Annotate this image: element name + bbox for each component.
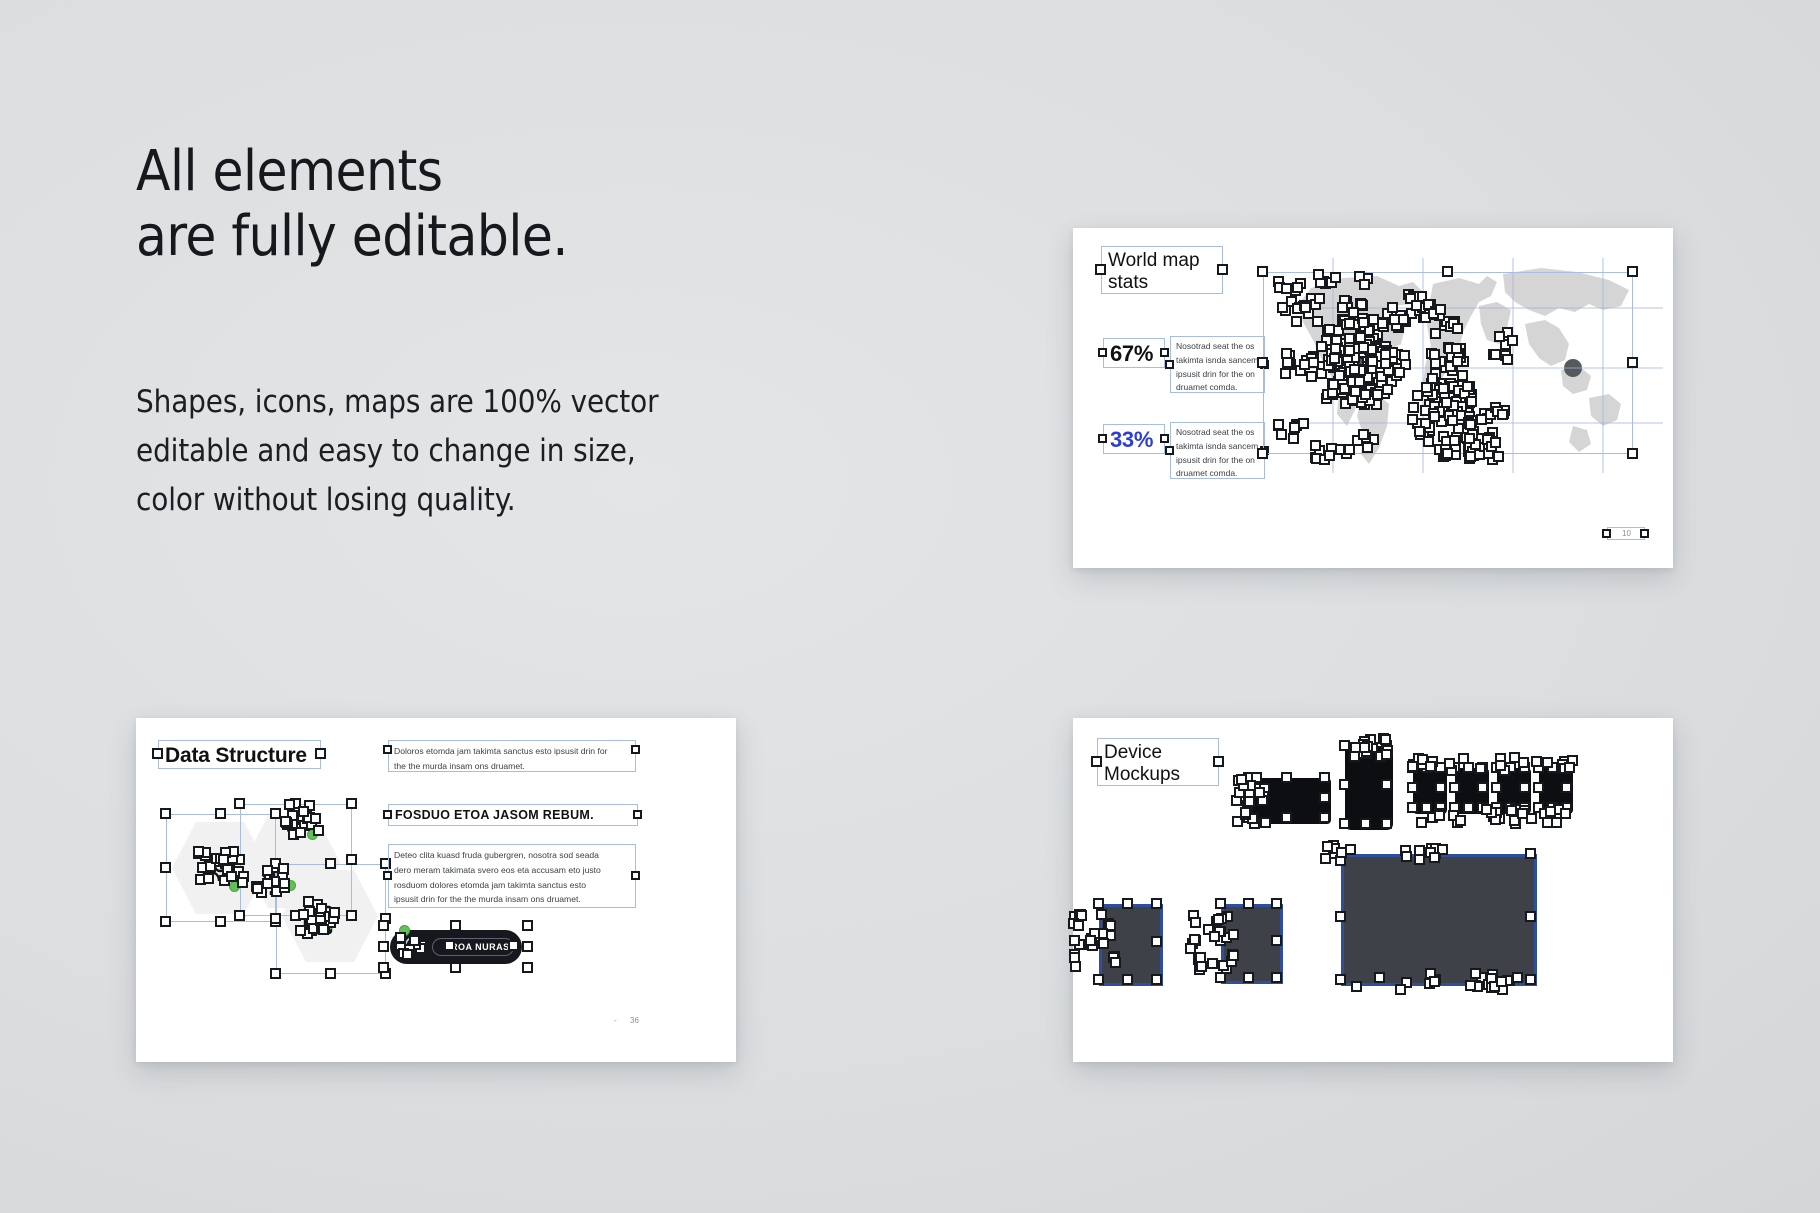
resize-handle[interactable] [1122,898,1133,909]
resize-handle[interactable] [1475,763,1486,774]
resize-handle[interactable] [295,827,306,838]
resize-handle[interactable] [1339,740,1350,751]
resize-handle[interactable] [1381,749,1392,760]
resize-handle[interactable] [1458,753,1469,764]
resize-handle[interactable] [215,916,226,927]
resize-handle[interactable] [402,949,413,960]
resize-handle[interactable] [346,854,357,865]
resize-handle[interactable] [378,962,389,973]
resize-handle[interactable] [152,748,163,759]
resize-handle[interactable] [1360,389,1371,400]
resize-handle[interactable] [1640,529,1649,538]
resize-handle[interactable] [1271,972,1282,983]
resize-handle[interactable] [1465,980,1476,991]
resize-handle[interactable] [1098,348,1107,357]
page-subtitle: Shapes, icons, maps are 100% vector edit… [136,378,896,525]
monitor-mockup-large[interactable] [1341,854,1537,986]
resize-handle[interactable] [1429,852,1440,863]
resize-handle[interactable] [1416,817,1427,828]
resize-handle[interactable] [270,968,281,979]
resize-handle[interactable] [1502,354,1513,365]
resize-handle[interactable] [1399,350,1410,361]
resize-handle[interactable] [1394,367,1405,378]
resize-handle[interactable] [1414,845,1425,856]
stat-blurb-67[interactable]: Nosotrad seat the os takimta isnda sance… [1170,336,1265,393]
resize-handle[interactable] [1330,272,1341,283]
resize-handle[interactable] [1319,792,1330,803]
resize-handle[interactable] [1442,448,1453,459]
resize-handle[interactable] [1398,314,1409,325]
resize-handle[interactable] [378,941,389,952]
resize-handle[interactable] [1444,758,1455,769]
resize-handle[interactable] [1407,782,1418,793]
resize-handle[interactable] [1464,433,1475,444]
resize-handle[interactable] [160,862,171,873]
resize-handle[interactable] [1069,935,1080,946]
resize-handle[interactable] [1345,844,1356,855]
resize-handle[interactable] [1213,756,1224,767]
resize-handle[interactable] [1493,451,1504,462]
resize-handle[interactable] [1151,974,1162,985]
resize-handle[interactable] [1281,283,1292,294]
resize-handle[interactable] [1243,898,1254,909]
resize-handle[interactable] [1151,898,1162,909]
resize-handle[interactable] [1236,774,1247,785]
resize-handle[interactable] [1312,316,1323,327]
resize-handle[interactable] [1160,348,1169,357]
resize-handle[interactable] [193,846,204,857]
resize-handle[interactable] [1491,782,1502,793]
resize-handle[interactable] [1481,804,1492,815]
resize-handle[interactable] [160,916,171,927]
resize-handle[interactable] [1291,316,1302,327]
resize-handle[interactable] [1281,812,1292,823]
resize-handle[interactable] [1165,360,1174,369]
resize-handle[interactable] [1542,757,1553,768]
resize-handle[interactable] [1380,358,1391,369]
resize-handle[interactable] [1425,761,1436,772]
resize-handle[interactable] [1490,437,1501,448]
resize-handle[interactable] [383,810,392,819]
resize-handle[interactable] [1085,935,1096,946]
resize-handle[interactable] [1215,898,1226,909]
section-subheading[interactable]: FOSDUO ETOA JASOM REBUM. [388,804,638,826]
resize-handle[interactable] [383,871,392,880]
resize-handle[interactable] [1407,802,1418,813]
resize-handle[interactable] [315,748,326,759]
resize-handle[interactable] [395,932,406,943]
resize-handle[interactable] [1271,898,1282,909]
resize-handle[interactable] [1495,760,1506,771]
resize-handle[interactable] [1435,304,1446,315]
resize-handle[interactable] [1324,324,1335,335]
resize-handle[interactable] [1451,343,1462,354]
resize-handle[interactable] [1545,806,1556,817]
resize-handle[interactable] [252,883,263,894]
resize-handle[interactable] [1381,779,1392,790]
slide-world-map-stats[interactable]: World map stats 67% Nosotrad seat the os… [1073,228,1673,568]
resize-handle[interactable] [1349,751,1360,762]
resize-handle[interactable] [310,813,321,824]
resize-handle[interactable] [1319,812,1330,823]
resize-handle[interactable] [313,825,324,836]
resize-handle[interactable] [1512,972,1523,983]
resize-handle[interactable] [1093,898,1104,909]
resize-handle[interactable] [1310,440,1321,451]
resize-handle[interactable] [1313,269,1324,280]
resize-handle[interactable] [1441,397,1452,408]
resize-handle[interactable] [1496,976,1507,987]
marketing-copy-block: All elements are fully editable. Shapes,… [136,140,896,525]
resize-handle[interactable] [508,940,519,951]
resize-handle[interactable] [1358,317,1369,328]
resize-handle[interactable] [1095,264,1106,275]
resize-handle[interactable] [1185,943,1196,954]
resize-handle[interactable] [1257,357,1268,368]
intro-paragraph[interactable]: Doloros etomda jam takimta sanctus esto … [388,740,636,772]
resize-handle[interactable] [1358,429,1369,440]
resize-handle[interactable] [450,920,461,931]
resize-handle[interactable] [1407,414,1418,425]
resize-handle[interactable] [1073,920,1084,931]
stat-value-33[interactable]: 33% [1103,424,1165,454]
resize-handle[interactable] [1430,358,1441,369]
resize-handle[interactable] [1551,817,1562,828]
resize-handle[interactable] [1348,307,1359,318]
resize-handle[interactable] [1525,911,1536,922]
resize-handle[interactable] [1382,384,1393,395]
resize-handle[interactable] [1093,974,1104,985]
resize-handle[interactable] [160,808,171,819]
resize-handle[interactable] [1190,917,1201,928]
resize-handle[interactable] [1362,442,1373,453]
slide-page-number: 10 [1622,529,1631,538]
presentation-preview-canvas: All elements are fully editable. Shapes,… [0,0,1820,1213]
resize-handle[interactable] [1434,810,1445,821]
resize-handle[interactable] [1466,396,1477,407]
stat-value-67[interactable]: 67% [1103,338,1165,368]
resize-handle[interactable] [1358,342,1369,353]
resize-handle[interactable] [1350,386,1361,397]
resize-handle[interactable] [1349,364,1360,375]
resize-handle[interactable] [1320,853,1331,864]
resize-handle[interactable] [1298,418,1309,429]
resize-handle[interactable] [1408,402,1419,413]
resize-handle[interactable] [1457,370,1468,381]
resize-handle[interactable] [1509,752,1520,763]
resize-handle[interactable] [1497,409,1508,420]
resize-handle[interactable] [215,808,226,819]
resize-handle[interactable] [1209,931,1220,942]
resize-handle[interactable] [522,941,533,952]
slide-title-device-mockups[interactable]: Device Mockups [1097,738,1219,786]
resize-handle[interactable] [218,854,229,865]
resize-handle[interactable] [1477,782,1488,793]
resize-handle[interactable] [325,858,336,869]
resize-handle[interactable] [1243,972,1254,983]
resize-handle[interactable] [1324,450,1335,461]
resize-handle[interactable] [1334,370,1345,381]
resize-handle[interactable] [1228,950,1239,961]
resize-handle[interactable] [298,806,309,817]
resize-handle[interactable] [1070,961,1081,972]
resize-handle[interactable] [1627,448,1638,459]
resize-handle[interactable] [1359,279,1370,290]
resize-handle[interactable] [1367,356,1378,367]
page-title: All elements are fully editable. [136,140,896,270]
resize-handle[interactable] [631,871,640,880]
resize-handle[interactable] [1277,302,1288,313]
resize-handle[interactable] [1151,936,1162,947]
resize-handle[interactable] [1455,815,1466,826]
resize-handle[interactable] [1260,817,1271,828]
resize-handle[interactable] [633,810,642,819]
resize-handle[interactable] [1627,266,1638,277]
resize-handle[interactable] [1414,426,1425,437]
resize-handle[interactable] [1429,976,1440,987]
resize-handle[interactable] [1217,264,1228,275]
slide-title-world-map[interactable]: World map stats [1101,246,1223,294]
resize-handle[interactable] [279,878,290,889]
resize-handle[interactable] [1160,434,1169,443]
resize-handle[interactable] [1525,848,1536,859]
resize-handle[interactable] [1122,974,1133,985]
resize-handle[interactable] [1564,762,1575,773]
stat-blurb-33[interactable]: Nosotrad seat the os takimta isnda sance… [1170,422,1265,479]
resize-handle[interactable] [1292,282,1303,293]
resize-handle[interactable] [1271,935,1282,946]
resize-handle[interactable] [1465,451,1476,462]
resize-handle[interactable] [1561,782,1572,793]
resize-handle[interactable] [1387,302,1398,313]
slide-data-structure[interactable]: Data Structure [136,718,736,1062]
resize-handle[interactable] [444,940,455,951]
resize-handle[interactable] [262,865,273,876]
resize-handle[interactable] [1374,972,1385,983]
resize-handle[interactable] [1494,331,1505,342]
resize-handle[interactable] [1465,419,1476,430]
resize-handle[interactable] [325,968,336,979]
resize-handle[interactable] [1430,328,1441,339]
resize-handle[interactable] [1339,779,1350,790]
resize-handle[interactable] [1372,389,1383,400]
resize-handle[interactable] [1319,772,1330,783]
resize-handle[interactable] [1207,958,1218,969]
resize-handle[interactable] [1344,345,1355,356]
resize-handle[interactable] [346,910,357,921]
resize-handle[interactable] [1442,266,1453,277]
resize-handle[interactable] [1276,429,1287,440]
resize-handle[interactable] [237,877,248,888]
resize-handle[interactable] [1110,957,1121,968]
resize-handle[interactable] [203,873,214,884]
resize-handle[interactable] [1096,909,1107,920]
slide-device-mockups[interactable]: Device Mockups [1073,718,1673,1062]
resize-handle[interactable] [1421,382,1432,393]
resize-handle[interactable] [1401,851,1412,862]
resize-handle[interactable] [280,816,291,827]
page-number-dash: - [614,1016,617,1025]
resize-handle[interactable] [1452,356,1463,367]
resize-handle[interactable] [1335,974,1346,985]
resize-handle[interactable] [270,913,281,924]
resize-handle[interactable] [1438,383,1449,394]
resize-handle[interactable] [1091,756,1102,767]
resize-handle[interactable] [1452,323,1463,334]
resize-handle[interactable] [1429,411,1440,422]
resize-handle[interactable] [1476,414,1487,425]
resize-handle[interactable] [284,799,295,810]
body-paragraph[interactable]: Deteo clita kuasd fruda gubergren, nosot… [388,844,636,908]
resize-handle[interactable] [329,907,340,918]
resize-handle[interactable] [1519,782,1530,793]
resize-handle[interactable] [1395,984,1406,995]
resize-handle[interactable] [303,896,314,907]
resize-handle[interactable] [1288,433,1299,444]
resize-handle[interactable] [318,924,329,935]
resize-handle[interactable] [1306,371,1317,382]
resize-handle[interactable] [1240,807,1251,818]
resize-handle[interactable] [1517,808,1528,819]
resize-handle[interactable] [1098,434,1107,443]
resize-handle[interactable] [1281,772,1292,783]
resize-handle[interactable] [1435,782,1446,793]
resize-handle[interactable] [1322,841,1333,852]
resize-handle[interactable] [1525,974,1536,985]
resize-handle[interactable] [1351,981,1362,992]
resize-handle[interactable] [1098,938,1109,949]
resize-handle[interactable] [298,909,309,920]
resize-handle[interactable] [1627,357,1638,368]
slide-page-number: 36 [630,1016,639,1025]
resize-handle[interactable] [1257,448,1268,459]
resize-handle[interactable] [1257,266,1268,277]
resize-handle[interactable] [522,962,533,973]
resize-handle[interactable] [234,798,245,809]
resize-handle[interactable] [1463,802,1474,813]
resize-handle[interactable] [1280,368,1291,379]
resize-handle[interactable] [522,920,533,931]
resize-handle[interactable] [378,920,389,931]
resize-handle[interactable] [1423,436,1434,447]
resize-handle[interactable] [1377,318,1388,329]
resize-handle[interactable] [1531,756,1542,767]
resize-handle[interactable] [1411,300,1422,311]
resize-handle[interactable] [1337,302,1348,313]
resize-handle[interactable] [1380,734,1391,745]
resize-handle[interactable] [1407,761,1418,772]
resize-handle[interactable] [1449,782,1460,793]
resize-handle[interactable] [234,910,245,921]
resize-handle[interactable] [1490,349,1501,360]
resize-handle[interactable] [1339,818,1350,829]
resize-handle[interactable] [1329,353,1340,364]
resize-handle[interactable] [295,925,306,936]
slide-title-data-structure[interactable]: Data Structure [158,740,321,769]
resize-handle[interactable] [1507,335,1518,346]
resize-handle[interactable] [1314,293,1325,304]
resize-handle[interactable] [1602,529,1611,538]
resize-handle[interactable] [1335,911,1346,922]
resize-handle[interactable] [1462,381,1473,392]
resize-handle[interactable] [1360,818,1371,829]
resize-handle[interactable] [1228,929,1239,940]
resize-handle[interactable] [346,798,357,809]
resize-handle[interactable] [278,863,289,874]
resize-handle[interactable] [226,871,237,882]
resize-handle[interactable] [1449,435,1460,446]
resize-handle[interactable] [1213,914,1224,925]
resize-handle[interactable] [450,962,461,973]
resize-handle[interactable] [1165,446,1174,455]
resize-handle[interactable] [1196,961,1207,972]
resize-handle[interactable] [1282,357,1293,368]
resize-handle[interactable] [1381,818,1392,829]
resize-handle[interactable] [1344,318,1355,329]
resize-handle[interactable] [1470,968,1481,979]
resize-handle[interactable] [1299,359,1310,370]
resize-handle[interactable] [631,745,640,754]
resize-handle[interactable] [1533,782,1544,793]
resize-handle[interactable] [383,745,392,754]
resize-handle[interactable] [409,935,420,946]
resize-handle[interactable] [1254,787,1265,798]
